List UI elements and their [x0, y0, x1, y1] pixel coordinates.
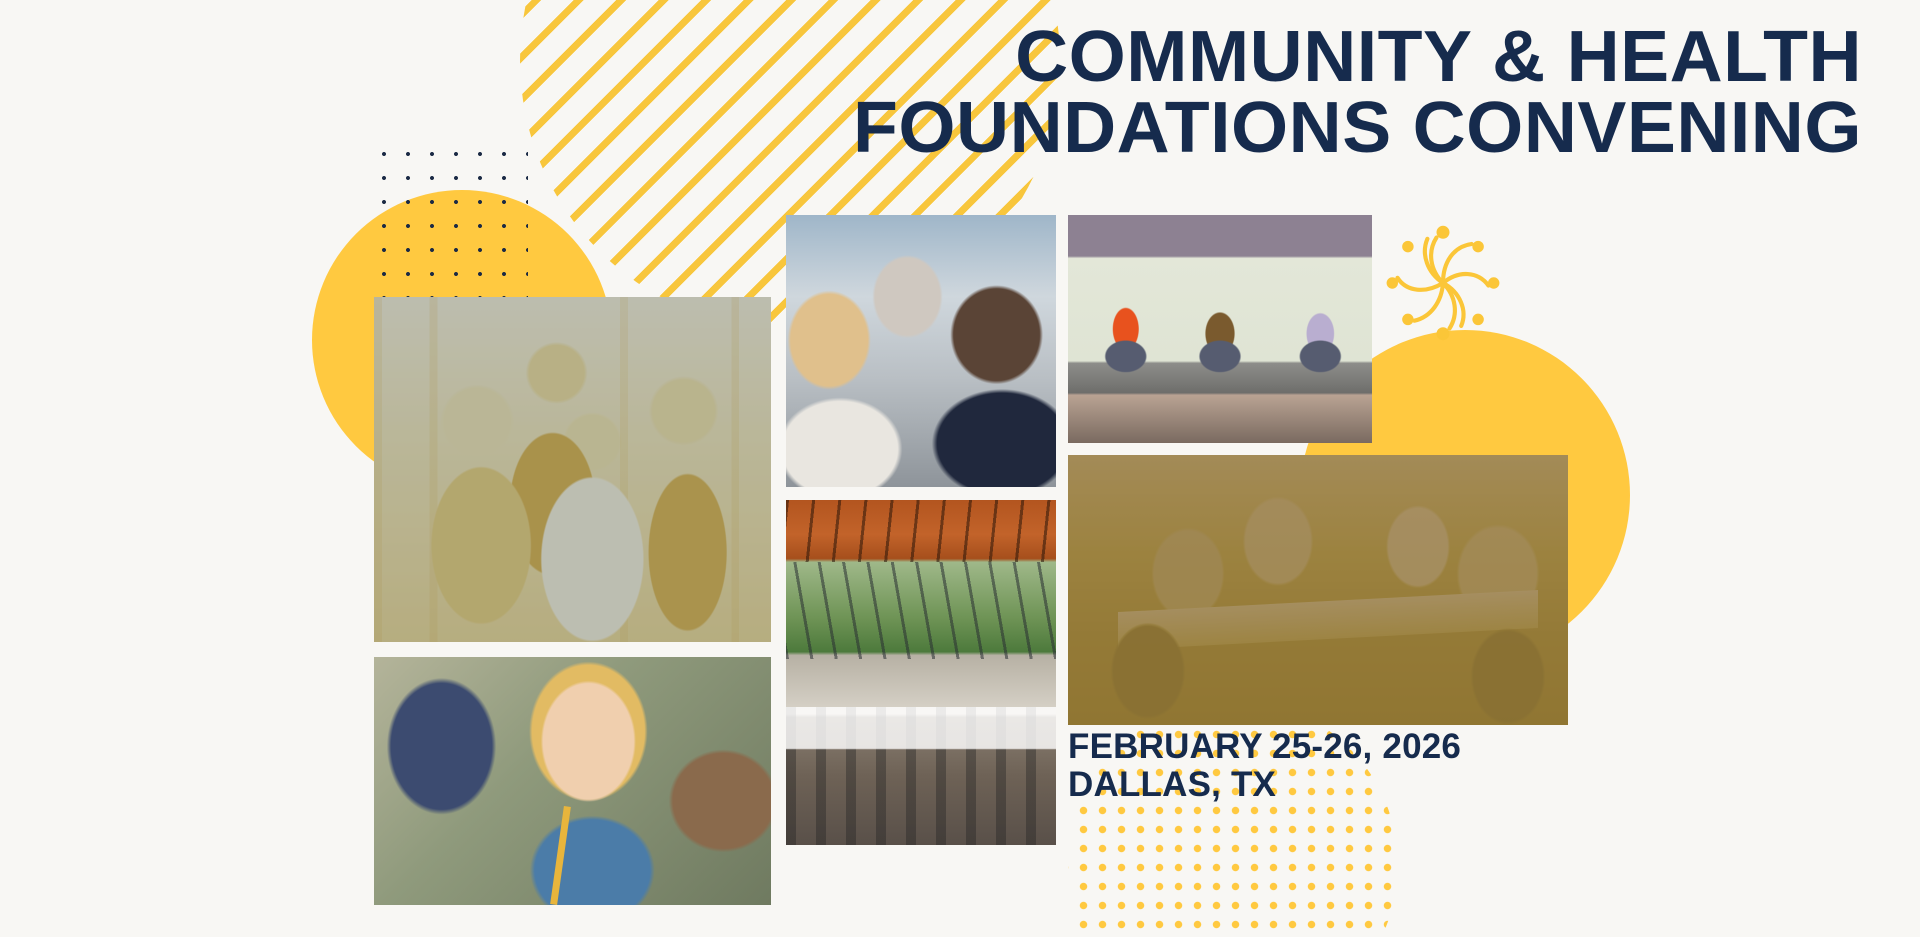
photo-detail-glass — [786, 562, 1056, 659]
photo-woman-smiling — [374, 657, 771, 905]
photo-dinner — [786, 500, 1056, 845]
photo-scene — [1068, 215, 1372, 443]
title-line-2: FOUNDATIONS CONVENING — [0, 93, 1862, 164]
photo-panel — [1068, 215, 1372, 443]
event-details: FEBRUARY 25-26, 2026 DALLAS, TX — [1068, 728, 1461, 804]
event-poster: COMMUNITY & HEALTH FOUNDATIONS CONVENING… — [0, 0, 1920, 937]
photo-audience — [786, 215, 1056, 487]
title-line-1: COMMUNITY & HEALTH — [0, 22, 1862, 93]
photo-detail-roof — [786, 500, 1056, 562]
photo-detail-figures — [374, 297, 771, 642]
photo-detail-chairs — [1068, 455, 1568, 725]
photo-scene — [786, 215, 1056, 487]
people-swirl-icon — [1378, 218, 1508, 348]
photo-group-four — [374, 297, 771, 642]
photo-detail-tables — [786, 707, 1056, 845]
photo-table-discussion — [1068, 455, 1568, 725]
photo-scene — [1068, 455, 1568, 725]
event-location: DALLAS, TX — [1068, 766, 1461, 804]
photo-scene — [374, 657, 771, 905]
page-title: COMMUNITY & HEALTH FOUNDATIONS CONVENING — [0, 22, 1862, 163]
photo-detail-windows — [374, 297, 771, 642]
event-date: FEBRUARY 25-26, 2026 — [1068, 728, 1461, 766]
photo-detail-chairs — [1068, 215, 1372, 443]
photo-detail-table — [1118, 590, 1538, 650]
photo-detail-lanyard — [550, 806, 571, 905]
photo-scene — [374, 297, 771, 642]
photo-scene — [786, 500, 1056, 845]
